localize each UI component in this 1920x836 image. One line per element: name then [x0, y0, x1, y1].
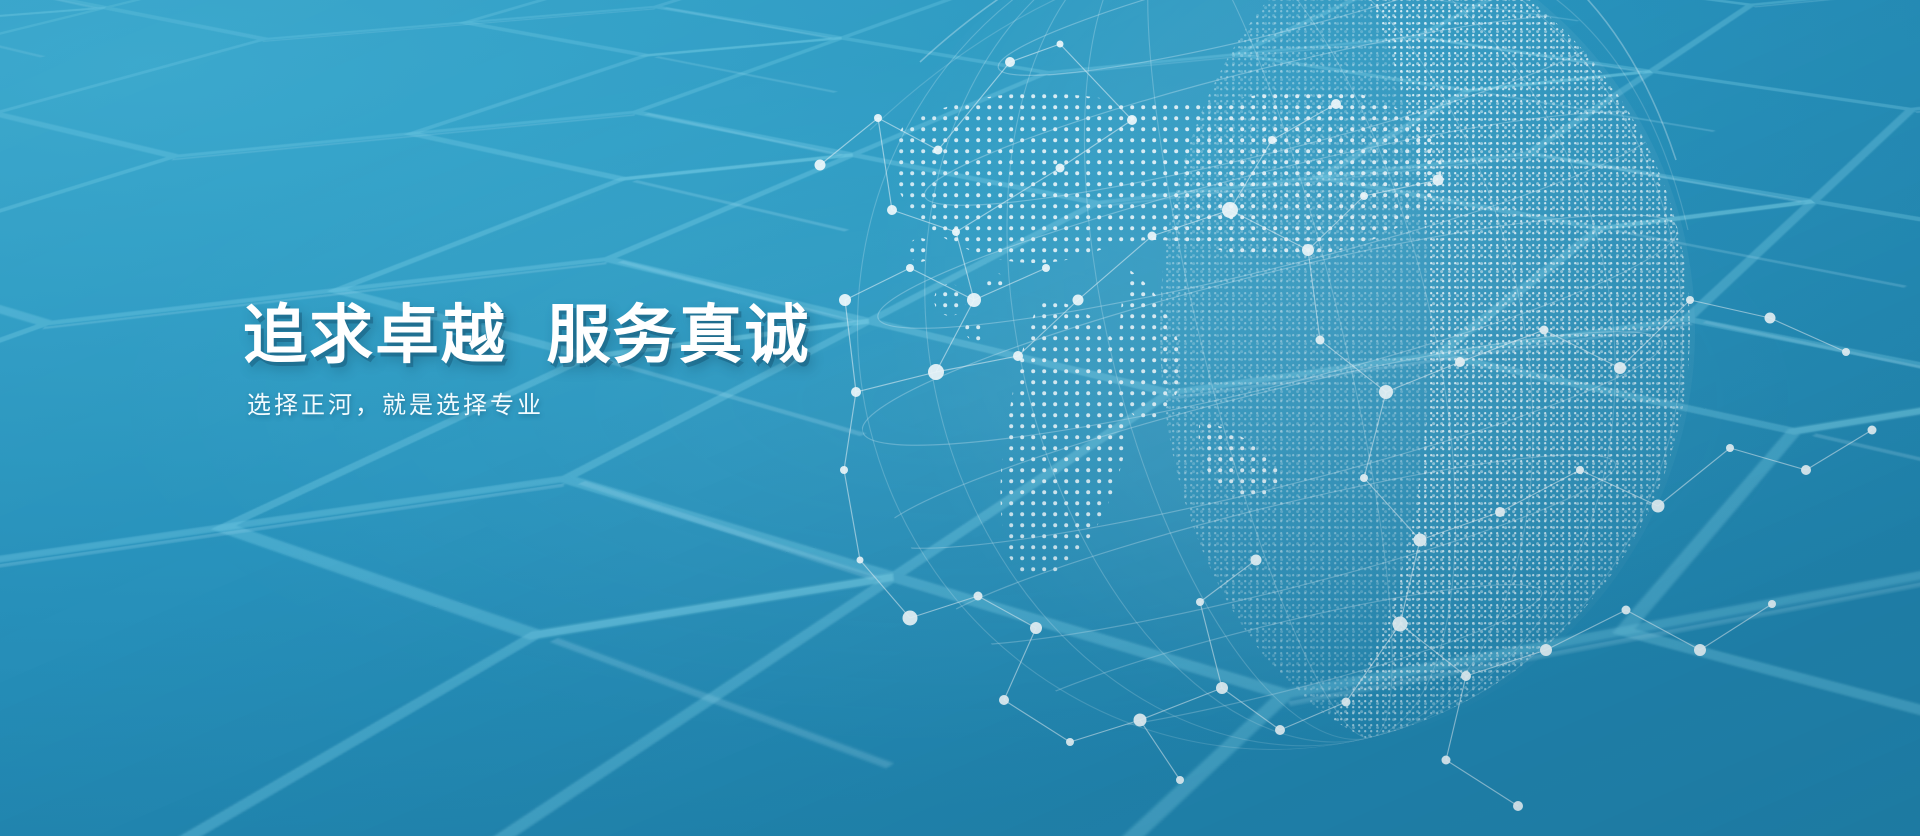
- page-title: 追求卓越 服务真诚: [243, 300, 1143, 372]
- banner-copy: 追求卓越 服务真诚 选择正河，就是选择专业: [243, 300, 1143, 421]
- banner-stage: 追求卓越 服务真诚 选择正河，就是选择专业: [0, 0, 1920, 836]
- page-subtitle: 选择正河，就是选择专业: [247, 390, 1143, 421]
